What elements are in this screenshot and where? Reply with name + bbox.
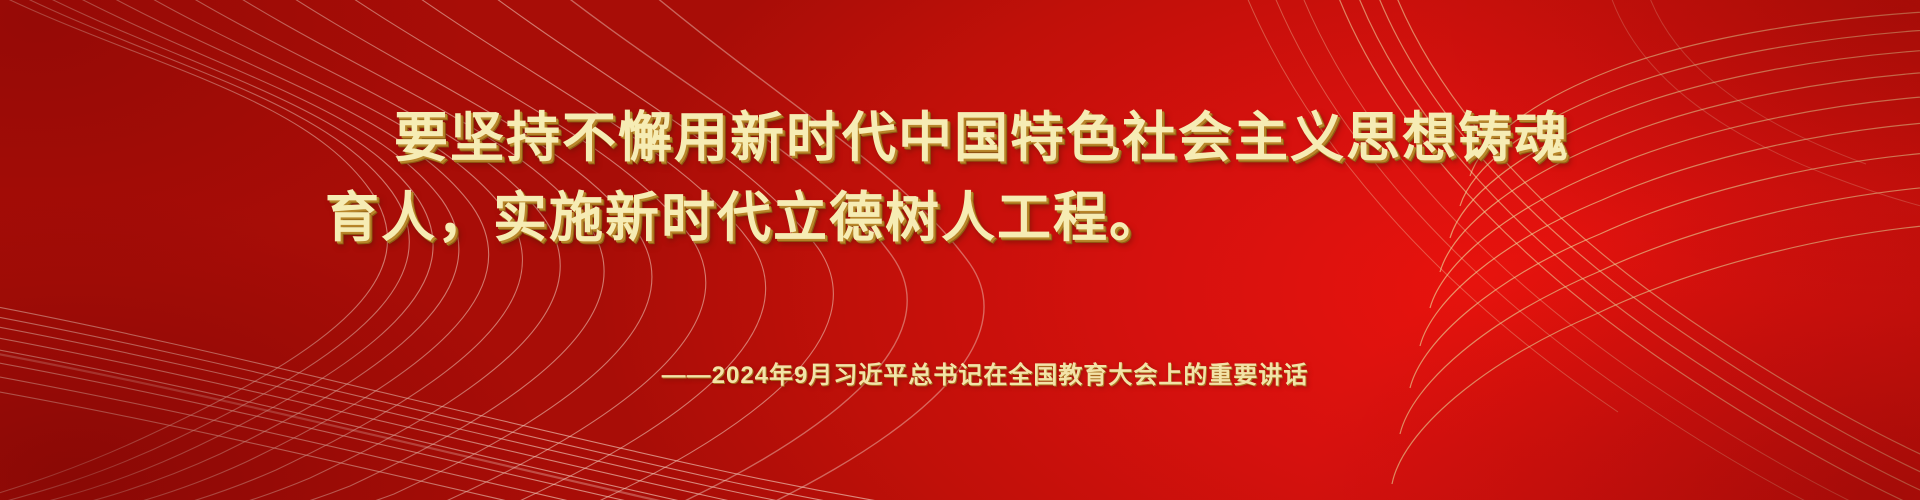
banner-content: 要坚持不懈用新时代中国特色社会主义思想铸魂 育人，实施新时代立德树人工程。 ——…: [0, 0, 1920, 500]
propaganda-banner: 要坚持不懈用新时代中国特色社会主义思想铸魂 育人，实施新时代立德树人工程。 ——…: [0, 0, 1920, 500]
headline-line-2: 育人，实施新时代立德树人工程。: [0, 191, 1920, 245]
attribution-text: ——2024年9月习近平总书记在全国教育大会上的重要讲话: [0, 355, 1920, 390]
headline-line-1: 要坚持不懈用新时代中国特色社会主义思想铸魂: [0, 111, 1920, 165]
